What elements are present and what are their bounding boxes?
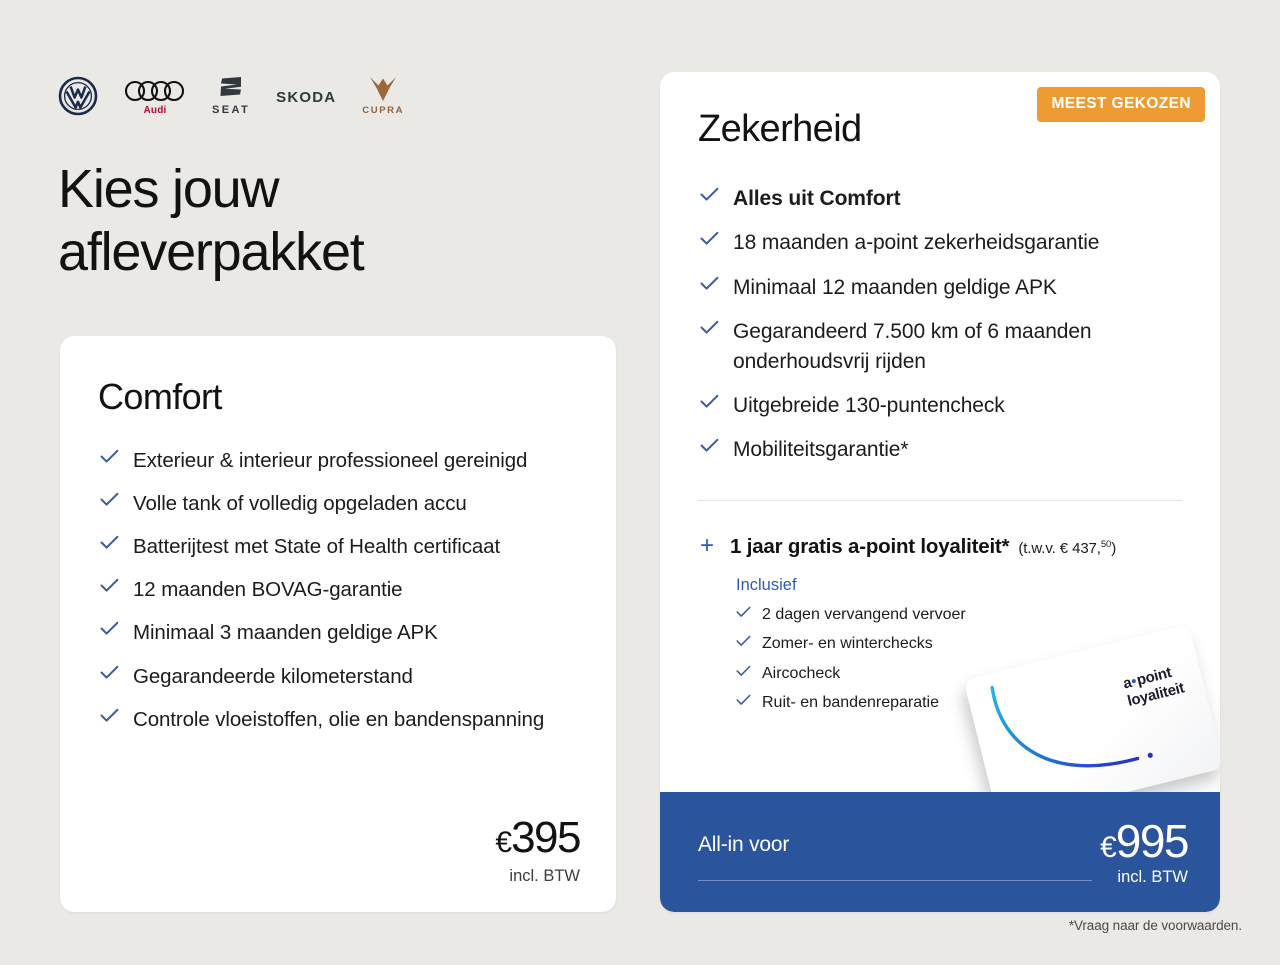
list-item: 18 maanden a-point zekerheidsgarantie (700, 228, 1180, 257)
feature-text: Minimaal 12 maanden geldige APK (733, 273, 1057, 302)
list-item: Alles uit Comfort (700, 184, 1180, 213)
loyalty-title: 1 jaar gratis a-point loyaliteit* (730, 535, 1009, 558)
check-icon (100, 708, 119, 723)
brand-logo-strip: Audi SEAT SKODA CUPRA (58, 66, 404, 116)
feature-text: Batterijtest met State of Health certifi… (133, 532, 500, 561)
check-icon (700, 394, 719, 409)
price-amount: 395 (511, 813, 580, 862)
loyalty-value-prefix: (t.w.v. € 437, (1018, 540, 1101, 557)
volkswagen-icon (58, 76, 98, 116)
check-icon (700, 187, 719, 202)
skoda-wordmark: SKODA (276, 89, 336, 116)
currency-symbol: € (1100, 831, 1116, 864)
zekerheid-package-card[interactable]: MEEST GEKOZEN Zekerheid Alles uit Comfor… (660, 72, 1220, 912)
feature-text: Uitgebreide 130-puntencheck (733, 391, 1005, 420)
list-item: Mobiliteitsgarantie* (700, 435, 1180, 464)
feature-text: Volle tank of volledig opgeladen accu (133, 489, 467, 518)
comfort-price-block: €395 incl. BTW (495, 816, 580, 886)
list-item: Gegarandeerde kilometerstand (100, 662, 570, 691)
check-icon (736, 665, 751, 677)
price-rule (698, 880, 1092, 881)
feature-text: Gegarandeerd 7.500 km of 6 maanden onder… (733, 317, 1180, 376)
comfort-feature-list: Exterieur & interieur professioneel gere… (100, 446, 570, 748)
loyalty-heading: + 1 jaar gratis a-point loyaliteit*(t.w.… (700, 534, 1190, 559)
feature-text: Gegarandeerde kilometerstand (133, 662, 413, 691)
list-item: 2 dagen vervangend vervoer (736, 604, 1190, 626)
audi-wordmark: Audi (143, 105, 166, 116)
cupra-mark-icon (368, 76, 398, 102)
loyalty-value: (t.w.v. € 437,50) (1018, 540, 1116, 557)
feature-text: Minimaal 3 maanden geldige APK (133, 618, 438, 647)
list-item: Exterieur & interieur professioneel gere… (100, 446, 570, 475)
allin-price-note: incl. BTW (1100, 868, 1188, 887)
check-icon (736, 606, 751, 618)
loyalty-item-text: Aircocheck (762, 663, 840, 685)
feature-text: 12 maanden BOVAG-garantie (133, 575, 402, 604)
zekerheid-feature-list: Alles uit Comfort 18 maanden a-point zek… (700, 184, 1180, 480)
section-divider (698, 500, 1182, 501)
zekerheid-card-title: Zekerheid (698, 108, 862, 151)
list-item: Minimaal 3 maanden geldige APK (100, 618, 570, 647)
check-icon (100, 665, 119, 680)
promo-page: Audi SEAT SKODA CUPRA Kies jouw afleverp… (0, 0, 1280, 965)
allin-price-bar: All-in voor €995 incl. BTW (660, 792, 1220, 912)
check-icon (700, 231, 719, 246)
feature-text: Exterieur & interieur professioneel gere… (133, 446, 527, 475)
loyalty-value-suffix: ) (1111, 540, 1116, 557)
page-title: Kies jouw afleverpakket (58, 158, 578, 284)
allin-label: All-in voor (698, 833, 789, 857)
allin-price-block: €995 incl. BTW (1100, 818, 1188, 887)
check-icon (100, 578, 119, 593)
feature-text: Controle vloeistoffen, olie en bandenspa… (133, 705, 544, 734)
check-icon (100, 535, 119, 550)
audi-rings-icon (124, 78, 186, 104)
list-item: Uitgebreide 130-puntencheck (700, 391, 1180, 420)
list-item: Volle tank of volledig opgeladen accu (100, 489, 570, 518)
list-item: Batterijtest met State of Health certifi… (100, 532, 570, 561)
volkswagen-logo (58, 76, 98, 116)
feature-text: Mobiliteitsgarantie* (733, 435, 908, 464)
loyalty-item-text: Zomer- en winterchecks (762, 633, 933, 655)
loyalty-item-text: 2 dagen vervangend vervoer (762, 604, 966, 626)
allin-price: €995 (1100, 818, 1188, 864)
comfort-price-note: incl. BTW (495, 867, 580, 886)
inclusief-label: Inclusief (736, 576, 1190, 595)
loyalty-item-text: Ruit- en bandenreparatie (762, 692, 939, 714)
check-icon (736, 694, 751, 706)
check-icon (700, 320, 719, 335)
footnote: *Vraag naar de voorwaarden. (1069, 918, 1242, 933)
check-icon (700, 276, 719, 291)
feature-text: Alles uit Comfort (733, 184, 900, 213)
check-icon (100, 492, 119, 507)
plus-icon: + (700, 534, 716, 558)
seat-logo: SEAT (212, 72, 250, 116)
audi-logo: Audi (124, 78, 186, 116)
cupra-wordmark: CUPRA (362, 105, 404, 116)
list-item: Gegarandeerd 7.500 km of 6 maanden onder… (700, 317, 1180, 376)
seat-s-icon (216, 72, 246, 102)
loyalty-value-cents: 50 (1101, 539, 1111, 550)
list-item: Controle vloeistoffen, olie en bandenspa… (100, 705, 570, 734)
check-icon (736, 635, 751, 647)
cupra-logo: CUPRA (362, 76, 404, 116)
price-amount: 995 (1116, 815, 1188, 867)
check-icon (700, 438, 719, 453)
check-icon (100, 621, 119, 636)
comfort-package-card[interactable]: Comfort Exterieur & interieur profession… (60, 336, 616, 912)
currency-symbol: € (495, 826, 511, 859)
list-item: 12 maanden BOVAG-garantie (100, 575, 570, 604)
check-icon (100, 449, 119, 464)
comfort-card-title: Comfort (98, 376, 222, 418)
feature-text: 18 maanden a-point zekerheidsgarantie (733, 228, 1099, 257)
list-item: Minimaal 12 maanden geldige APK (700, 273, 1180, 302)
comfort-price: €395 (495, 816, 580, 860)
seat-wordmark: SEAT (212, 104, 250, 116)
status-badge: MEEST GEKOZEN (1037, 87, 1205, 122)
